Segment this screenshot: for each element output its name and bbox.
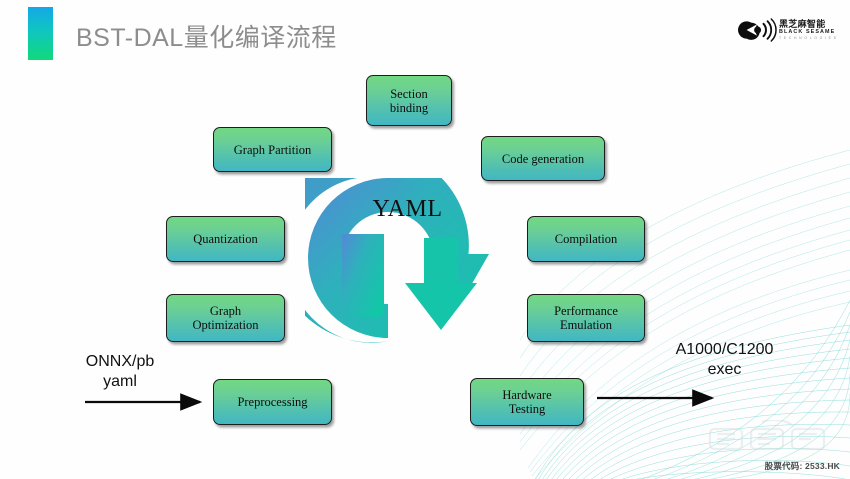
header-accent-bar [28,7,53,60]
logo-en-name: BLACK SESAME [779,29,837,36]
slide-canvas: 股票代码: 2533.HK BST-DAL量化编译流程 黑芝麻智能 BLACK … [0,0,850,479]
logo-cn-name: 黑芝麻智能 [779,19,837,29]
logo-sub-name: T E C H N O L O G I E S [779,36,837,41]
flow-arrow-group [0,0,850,479]
black-sesame-wave-logo-icon [737,15,777,45]
page-title: BST-DAL量化编译流程 [76,18,337,54]
company-logo: 黑芝麻智能 BLACK SESAME T E C H N O L O G I E… [737,13,842,47]
logo-text-block: 黑芝麻智能 BLACK SESAME T E C H N O L O G I E… [779,19,837,41]
